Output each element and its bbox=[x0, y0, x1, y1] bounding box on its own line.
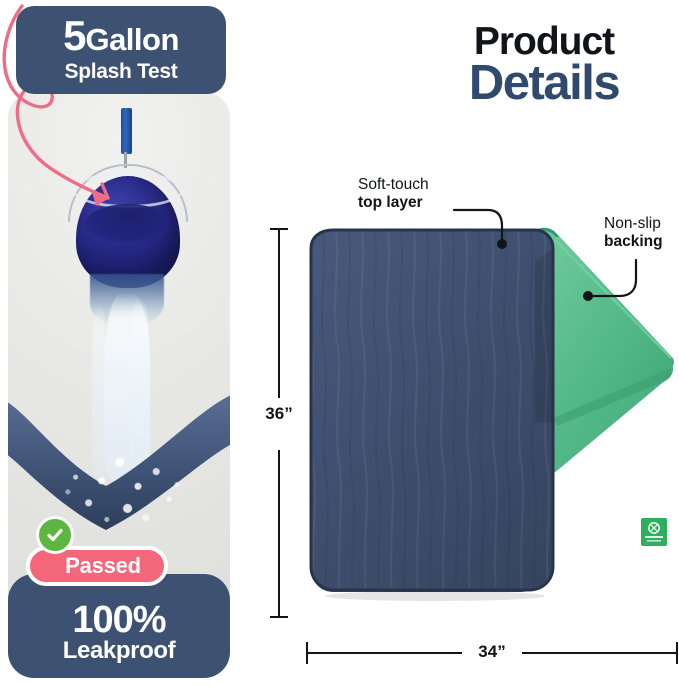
dimension-line bbox=[522, 652, 678, 654]
check-icon bbox=[36, 516, 74, 554]
dimension-line bbox=[278, 450, 280, 618]
dimension-line bbox=[306, 652, 462, 654]
passed-label: Passed bbox=[65, 553, 141, 579]
height-dimension: 36” bbox=[262, 228, 296, 618]
leakproof-badge: 100% Leakproof bbox=[8, 574, 230, 678]
page-title: Product Details bbox=[418, 22, 670, 108]
leakproof-percent: 100% bbox=[72, 601, 165, 639]
leakproof-label: Leakproof bbox=[63, 637, 175, 665]
brand-logo-icon bbox=[641, 518, 667, 546]
callout-top-layer-line2: top layer bbox=[358, 194, 429, 212]
badge-headline: 5 Gallon bbox=[63, 16, 179, 58]
dimension-cap bbox=[270, 616, 288, 618]
height-dimension-label: 36” bbox=[256, 404, 302, 424]
dimension-cap bbox=[676, 642, 678, 664]
badge-gallon-unit: Gallon bbox=[85, 22, 178, 58]
dimension-line bbox=[278, 228, 280, 398]
callout-backing: Non-slip backing bbox=[604, 215, 663, 252]
width-dimension: 34” bbox=[306, 636, 678, 670]
width-dimension-label: 34” bbox=[462, 642, 522, 662]
title-line-details: Details bbox=[418, 59, 670, 108]
callout-backing-line2: backing bbox=[604, 233, 663, 251]
callout-top-layer: Soft-touch top layer bbox=[358, 176, 429, 213]
callout-backing-line1: Non-slip bbox=[604, 215, 663, 233]
badge-gallon-number: 5 bbox=[63, 16, 85, 56]
badge-subtitle: Splash Test bbox=[64, 60, 177, 84]
product-mat-illustration bbox=[305, 222, 679, 614]
splash-test-badge: 5 Gallon Splash Test bbox=[16, 6, 226, 94]
callout-top-layer-line1: Soft-touch bbox=[358, 176, 429, 194]
